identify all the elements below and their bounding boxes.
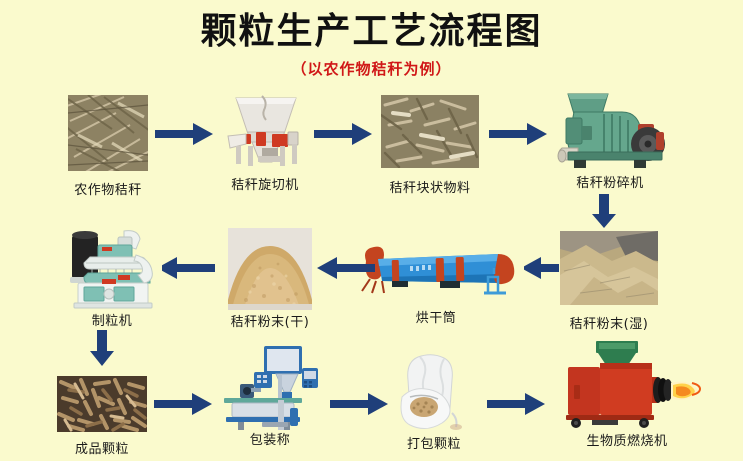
flow-step-label: 烘干筒 [381, 307, 491, 326]
dry-sawdust-heap-photo [228, 228, 312, 310]
arrow-down-row2-to-row3 [89, 330, 115, 366]
page-title: 颗粒生产工艺流程图 [0, 10, 743, 54]
arrow-right-2 [314, 122, 372, 146]
flow-step-straw-powder-wet[interactable]: 秸秆粉末(湿) [560, 231, 658, 305]
flow-step-bagged-pellets[interactable]: 打包颗粒 [396, 353, 472, 431]
bagging-weighing-machine [218, 344, 322, 432]
flowchart-canvas: 颗粒生产工艺流程图 （以农作物秸秆为例） [0, 0, 743, 461]
flow-step-packing-scale[interactable]: 包装称 [218, 344, 322, 432]
flow-step-label: 打包颗粒 [375, 433, 493, 452]
flow-step-label: 秸秆粉末(干) [203, 311, 337, 330]
wood-pellets-photo [57, 376, 147, 432]
flow-step-label: 生物质燃烧机 [547, 430, 707, 449]
page-subtitle: （以农作物秸秆为例） [0, 58, 743, 79]
flow-step-label: 制粒机 [54, 310, 170, 329]
straw-hammer-mill-machine [552, 88, 668, 174]
arrow-right-1 [155, 122, 213, 146]
flow-step-label: 秸秆粉末(湿) [540, 313, 678, 332]
flow-step-label: 包装称 [213, 429, 327, 448]
wet-sawdust-heap-photo [560, 231, 658, 305]
flow-step-label: 农作物秸秆 [38, 179, 178, 198]
flow-step-label: 秸秆粉碎机 [540, 172, 680, 191]
flow-step-straw-cutter[interactable]: 秸秆旋切机 [222, 90, 308, 172]
arrow-right-5 [330, 392, 388, 416]
flow-step-biomass-burner[interactable]: 生物质燃烧机 [552, 341, 702, 431]
straw-rotary-cutter-machine [222, 90, 308, 172]
pellet-bag-photo [396, 353, 472, 431]
arrow-left-2 [317, 256, 375, 280]
arrow-right-6 [487, 392, 545, 416]
flow-step-finished-pellets[interactable]: 成品颗粒 [57, 376, 147, 432]
flow-step-label: 秸秆旋切机 [195, 174, 335, 193]
straw-pile-photo [68, 95, 148, 171]
flow-step-straw-chunks[interactable]: 秸秆块状物料 [381, 95, 479, 168]
flow-step-straw-powder-dry[interactable]: 秸秆粉末(干) [228, 228, 312, 310]
biomass-burner-machine [552, 341, 702, 431]
arrow-left-1 [521, 256, 559, 280]
arrow-right-3 [489, 122, 547, 146]
arrow-down-row1-to-row2 [591, 194, 617, 228]
flow-step-straw-crusher[interactable]: 秸秆粉碎机 [552, 88, 668, 174]
flow-step-crop-straw[interactable]: 农作物秸秆 [68, 95, 148, 171]
arrow-left-3 [157, 256, 215, 280]
chopped-straw-photo [381, 95, 479, 168]
flow-step-label: 秸秆块状物料 [362, 177, 498, 196]
ring-die-pellet-mill-machine [62, 227, 162, 310]
flow-step-pellet-mill[interactable]: 制粒机 [62, 227, 162, 310]
arrow-right-4 [154, 392, 212, 416]
flow-step-label: 成品颗粒 [37, 438, 167, 457]
